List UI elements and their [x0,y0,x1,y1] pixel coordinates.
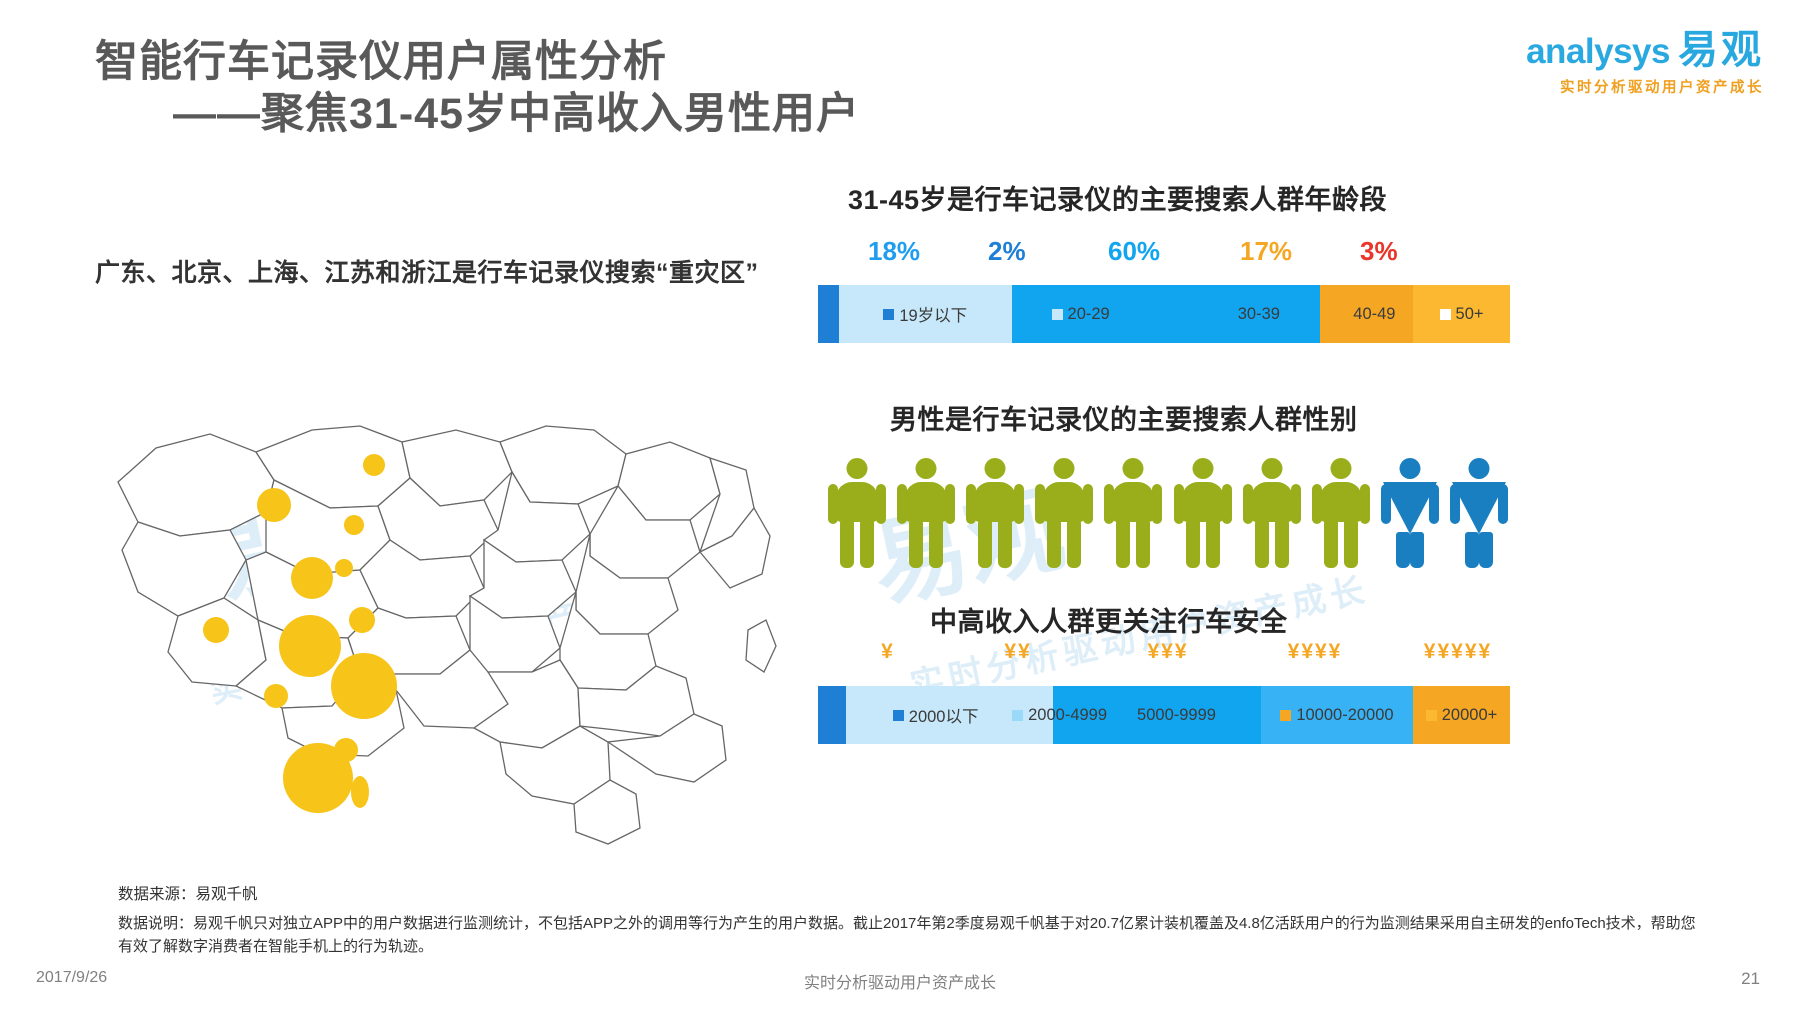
map-bubble [283,743,353,813]
logo-brand-cn: 易观 [1678,28,1764,72]
person-male-icon [1104,458,1162,568]
title-line-2: ——聚焦31-45岁中高收入男性用户 [95,88,860,140]
yen-mark-1: ¥¥ [948,640,1088,664]
age-legend-1: 20-29 [1052,305,1110,324]
age-legend-label-2: 30-39 [1238,305,1280,324]
china-map-svg [60,330,800,860]
person-male-icon [1174,458,1232,568]
footer-page-number: 21 [1741,969,1760,989]
note-source: 数据来源：易观千帆 [118,882,1698,904]
map-bubble [363,454,385,476]
income-legend-0: 2000以下 [893,703,979,727]
age-section-title: 31-45岁是行车记录仪的主要搜索人群年龄段 [848,178,1387,217]
map-heading: 广东、北京、上海、江苏和浙江是行车记录仪搜索“重灾区” [95,255,759,293]
income-legend-2: 5000-9999 [1121,706,1216,725]
logo-text: analysys易观 [1526,30,1764,70]
slide-root: analysys易观 实时分析驱动用户资产成长 智能行车记录仪用户属性分析 ——… [0,0,1800,1013]
footnotes: 数据来源：易观千帆 数据说明：易观千帆只对独立APP中的用户数据进行监测统计，不… [118,882,1698,959]
note-description: 数据说明：易观千帆只对独立APP中的用户数据进行监测统计，不包括APP之外的调用… [118,912,1698,959]
map-bubble [349,607,375,633]
income-bar-chart: 2000以下 2000-4999 5000-9999 10000-20000 2… [818,686,1510,744]
map-bubble [344,515,364,535]
legend-swatch-icon [1337,309,1348,320]
income-bar-seg-0 [818,686,846,744]
person-male-icon [966,458,1024,568]
title-line-1: 智能行车记录仪用户属性分析 [95,36,860,88]
map-bubble [335,559,353,577]
map-heading-text: 广东、北京、上海、江苏和浙江是行车记录仪搜索“重灾区” [95,259,759,287]
yen-mark-0: ¥ [828,640,948,664]
slide-footer: 2017/9/26 实时分析驱动用户资产成长 21 [0,969,1800,999]
age-legend-label-4: 50+ [1456,305,1484,324]
footer-date: 2017/9/26 [36,969,107,987]
yen-mark-4: ¥¥¥¥¥ [1383,640,1533,664]
gender-pictogram [828,448,1508,568]
income-legend-label-4: 20000+ [1442,706,1498,725]
age-bar-seg-2: 20-29 30-39 [1012,285,1320,343]
china-map [60,330,800,860]
person-male-icon [897,458,955,568]
map-bubble [331,653,397,719]
person-male-icon [1312,458,1370,568]
map-bubble [351,776,369,808]
income-bar-seg-2: 2000-4999 5000-9999 [1053,686,1261,744]
person-male-icon [1035,458,1093,568]
person-female-icon [1450,458,1508,568]
logo-brand-en: analysys [1526,32,1670,71]
income-legend-4: 20000+ [1426,706,1498,725]
age-legend-label-1: 20-29 [1068,305,1110,324]
person-male-icon [1243,458,1301,568]
legend-swatch-icon [893,710,904,721]
income-legend-label-2: 5000-9999 [1137,706,1216,725]
age-legend-2: 30-39 [1238,305,1280,324]
income-legend-label-1: 2000-4999 [1028,706,1107,725]
age-legend-3: 40-49 [1337,305,1395,324]
income-legend-label-0: 2000以下 [909,703,979,727]
gender-section-title: 男性是行车记录仪的主要搜索人群性别 [890,398,1358,437]
age-bar-seg-3: 40-49 [1320,285,1413,343]
map-bubble [264,684,288,708]
age-legend-0: 19岁以下 [883,302,967,326]
age-legend-4: 50+ [1440,305,1484,324]
income-legend-label-3: 10000-20000 [1296,706,1393,725]
age-pct-2: 60% [1108,236,1160,267]
logo-tagline: 实时分析驱动用户资产成长 [1526,76,1764,97]
income-bar-seg-3: 10000-20000 [1261,686,1413,744]
map-bubble [257,488,291,522]
legend-swatch-icon [1052,309,1063,320]
person-male-icon [828,458,886,568]
yen-mark-2: ¥¥¥ [1098,640,1238,664]
age-bar-chart: 19岁以下 20-29 30-39 40-49 50+ [818,285,1510,343]
legend-swatch-icon [883,309,894,320]
income-legend-3: 10000-20000 [1280,706,1393,725]
map-bubble [291,557,333,599]
income-section-title: 中高收入人群更关注行车安全 [930,600,1288,639]
income-bar-seg-1: 2000以下 [846,686,1026,744]
age-pct-3: 17% [1240,236,1292,267]
person-female-icon [1381,458,1439,568]
age-pct-4: 3% [1360,236,1398,267]
brand-logo: analysys易观 实时分析驱动用户资产成长 [1526,30,1764,97]
footer-slogan: 实时分析驱动用户资产成长 [804,969,996,993]
age-bar-seg-4: 50+ [1413,285,1510,343]
legend-swatch-icon [1012,710,1023,721]
age-legend-label-0: 19岁以下 [899,302,967,326]
map-bubble [203,617,229,643]
income-legend-1: 2000-4999 [1012,706,1107,725]
legend-swatch-icon [1440,309,1451,320]
legend-swatch-icon [1426,710,1437,721]
map-bubble [279,615,341,677]
page-title: 智能行车记录仪用户属性分析 ——聚焦31-45岁中高收入男性用户 [95,36,860,141]
yen-mark-3: ¥¥¥¥ [1240,640,1390,664]
age-bar-seg-1: 19岁以下 [839,285,1012,343]
age-pct-1: 2% [988,236,1026,267]
income-bar-seg-4: 20000+ [1413,686,1510,744]
age-bar-seg-0 [818,285,839,343]
legend-swatch-icon [1280,710,1291,721]
legend-swatch-icon [1121,710,1132,721]
age-legend-label-3: 40-49 [1353,305,1395,324]
age-pct-0: 18% [868,236,920,267]
